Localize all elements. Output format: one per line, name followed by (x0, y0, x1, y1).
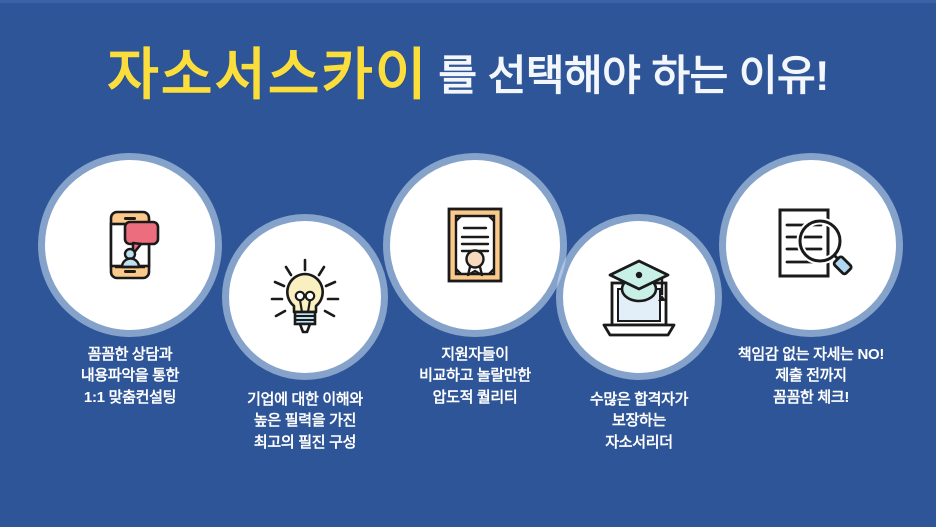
icon-bubble (563, 221, 715, 373)
feature-item-leader: 수많은 합격자가 보장하는 자소서리더 (546, 221, 732, 453)
feature-caption: 꼼꼼한 상담과 내용파악을 통한 1:1 맞춤컨설팅 (37, 344, 223, 408)
laptop-graduation-cap-icon (563, 221, 715, 373)
document-magnifier-icon (726, 160, 896, 330)
feature-item-consulting: 꼼꼼한 상담과 내용파악을 통한 1:1 맞춤컨설팅 (37, 160, 223, 408)
feature-item-writers: 기업에 대한 이해와 높은 필력을 가진 최고의 필진 구성 (212, 221, 398, 453)
headline-rest: 를 선택해야 하는 이유! (438, 52, 828, 99)
lightbulb-icon (229, 221, 381, 373)
top-edge-band (0, 0, 936, 3)
icon-bubble (229, 221, 381, 373)
feature-item-check: 책임감 없는 자세는 NO! 제출 전까지 꼼꼼한 체크! (718, 160, 904, 408)
feature-caption: 지원자들이 비교하고 놀랄만한 압도적 퀄리티 (382, 344, 568, 408)
icon-bubble (390, 160, 560, 330)
feature-item-quality: 지원자들이 비교하고 놀랄만한 압도적 퀄리티 (382, 160, 568, 408)
brand-name: 자소서스카이 (107, 43, 428, 108)
icon-bubble (45, 160, 215, 330)
feature-caption: 수많은 합격자가 보장하는 자소서리더 (546, 389, 732, 453)
promo-slide: 자소서스카이를 선택해야 하는 이유! 꼼꼼한 상담과 내용파악을 통한 1:1… (0, 0, 936, 527)
feature-caption: 기업에 대한 이해와 높은 필력을 가진 최고의 필진 구성 (212, 389, 398, 453)
feature-caption: 책임감 없는 자세는 NO! 제출 전까지 꼼꼼한 체크! (718, 344, 904, 408)
page-title: 자소서스카이를 선택해야 하는 이유! (0, 48, 936, 104)
smartphone-chat-icon (45, 160, 215, 330)
certificate-icon (390, 160, 560, 330)
icon-bubble (726, 160, 896, 330)
